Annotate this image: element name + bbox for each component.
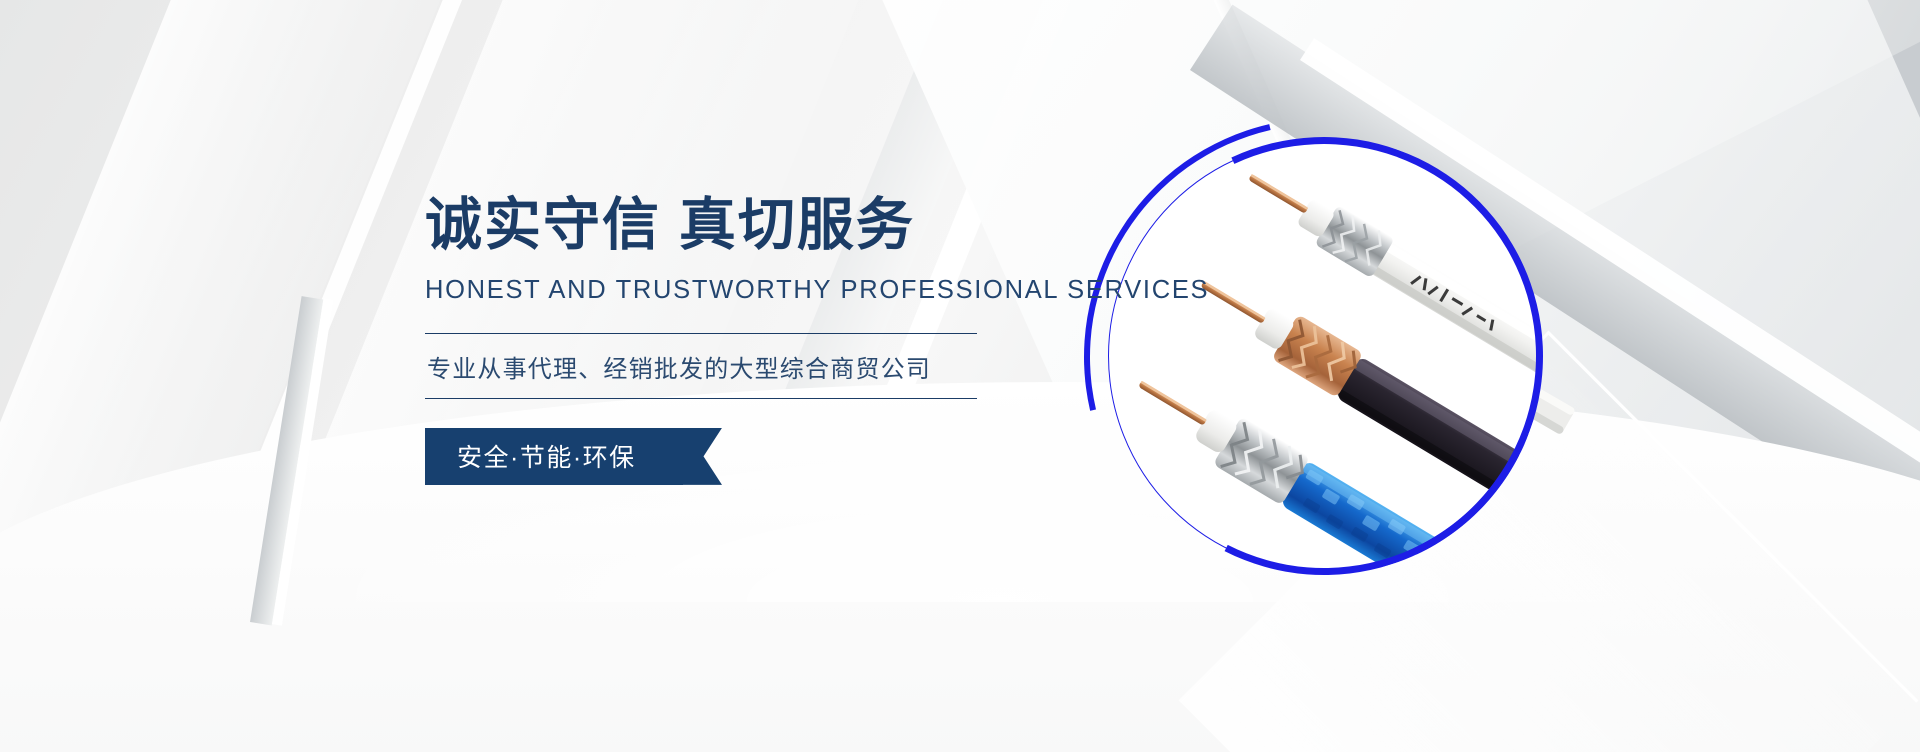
feature-ribbon[interactable]: 安全·节能·环保 — [425, 428, 722, 485]
subheadline: HONEST AND TRUSTWORTHY PROFESSIONAL SERV… — [425, 276, 1025, 305]
headline: 诚实守信 真切服务 — [425, 196, 1025, 256]
hero-text-block: 诚实守信 真切服务 HONEST AND TRUSTWORTHY PROFESS… — [425, 196, 1025, 485]
hero-banner: 诚实守信 真切服务 HONEST AND TRUSTWORTHY PROFESS… — [0, 0, 1920, 752]
ribbon-notch — [678, 428, 722, 485]
description: 专业从事代理、经销批发的大型综合商贸公司 — [425, 334, 1025, 398]
cable-photo-circle — [1108, 140, 1540, 572]
ribbon-label: 安全·节能·环保 — [457, 428, 636, 485]
divider-bottom — [425, 398, 977, 399]
